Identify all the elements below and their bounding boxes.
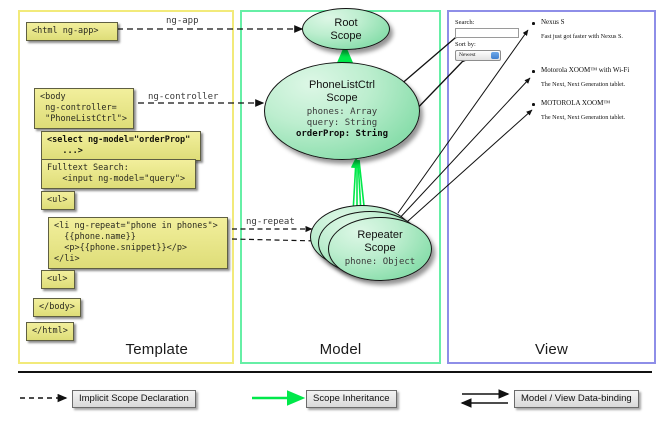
code-box-fulltext-search-input-tag: Fulltext Search: <input ng-model="query"… <box>41 159 196 189</box>
panel-template-title: Template <box>20 341 232 358</box>
scope-root-title-line1: Root <box>303 17 389 30</box>
phone-snippet: The Next, Next Generation tablet. <box>541 81 625 88</box>
scope-repeater: Repeater Scope phone: Object <box>328 217 432 281</box>
sort-by-select[interactable]: Newest <box>455 50 501 61</box>
scope-repeater-title-line1: Repeater <box>329 229 431 242</box>
view-sort-label: Sort by: <box>455 41 476 48</box>
code-box-select-order-prop-tag: <select ng-model="orderProp" ...> <box>41 131 201 161</box>
phone-name[interactable]: Motorola XOOM™ with Wi-Fi <box>541 66 629 74</box>
scope-repeater-title-line2: Scope <box>329 242 431 255</box>
code-box-body-close-tag: </body> <box>33 298 81 317</box>
view-search-label: Search: <box>455 19 475 26</box>
scope-prop-phone: phone: Object <box>345 257 415 267</box>
legend-item-model-view-data-binding: Model / View Data-binding <box>514 390 639 408</box>
phone-name[interactable]: Nexus S <box>541 18 565 26</box>
scope-root-title-line2: Scope <box>303 30 389 43</box>
panel-view: View <box>447 10 656 364</box>
phone-snippet: The Next, Next Generation tablet. <box>541 114 625 121</box>
list-bullet-icon <box>532 70 535 73</box>
code-box-html-open-tag: <html ng-app> <box>26 22 118 41</box>
code-box-html-close-tag: </html> <box>26 322 74 341</box>
code-box-ul-close-tag: <ul> <box>41 270 75 289</box>
legend-item-scope-inheritance: Scope Inheritance <box>306 390 397 408</box>
scope-phonelistctrl-title-line2: Scope <box>265 92 419 105</box>
connector-label-ng-app: ng-app <box>166 16 199 26</box>
scope-phonelistctrl-title-line1: PhoneListCtrl <box>265 79 419 92</box>
scope-phonelistctrl: PhoneListCtrl Scope phones: Arrayquery: … <box>264 62 420 160</box>
legend-item-implicit-scope-declaration: Implicit Scope Declaration <box>72 390 196 408</box>
scope-prop-query: query: String <box>307 118 377 128</box>
panel-model-title: Model <box>242 341 439 358</box>
list-bullet-icon <box>532 103 535 106</box>
scope-phonelistctrl-props: phones: Arrayquery: StringorderProp: Str… <box>265 107 419 140</box>
legend-divider <box>18 371 652 373</box>
phone-snippet: Fast just got faster with Nexus S. <box>541 33 623 40</box>
scope-repeater-props: phone: Object <box>329 257 431 268</box>
angularjs-scope-diagram: Template Model View <box>0 0 661 425</box>
code-box-li-ng-repeat-tag: <li ng-repeat="phone in phones"> {{phone… <box>48 217 228 269</box>
code-box-ul-open-tag: <ul> <box>41 191 75 210</box>
panel-view-title: View <box>449 341 654 358</box>
connector-label-ng-controller: ng-controller <box>148 92 218 102</box>
code-box-body-controller-tag: <body ng-controller= "PhoneListCtrl"> <box>34 88 134 129</box>
scope-root: Root Scope <box>302 8 390 50</box>
phone-name[interactable]: MOTOROLA XOOM™ <box>541 99 610 107</box>
chevron-updown-icon <box>491 52 499 59</box>
list-bullet-icon <box>532 22 535 25</box>
scope-prop-orderprop: orderProp: String <box>296 129 388 139</box>
sort-by-selected-value: Newest <box>459 52 476 58</box>
connector-label-ng-repeat: ng-repeat <box>246 217 295 227</box>
search-input[interactable] <box>455 28 519 38</box>
scope-prop-phones: phones: Array <box>307 107 377 117</box>
